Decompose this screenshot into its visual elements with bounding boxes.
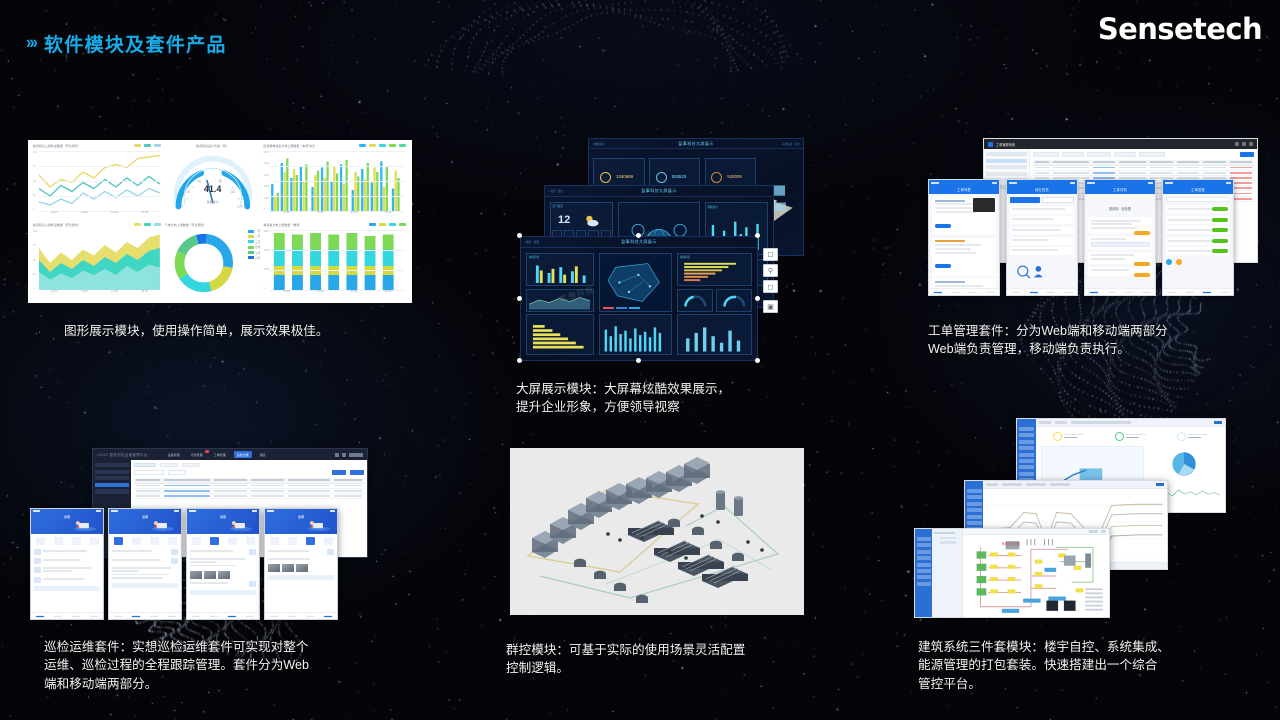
chart-donut-legend: 一月 二月 三月 四月 五月 六月 — [248, 229, 261, 260]
status-badge — [1212, 207, 1228, 211]
phone-hero-2: 运维 — [109, 509, 181, 534]
inspection-logo: LOGO 智慧巡检运维管理平台 — [97, 452, 148, 457]
more-button[interactable] — [112, 583, 178, 588]
chart-line-xaxis: 12:0013:0014:0015:00 — [39, 211, 160, 218]
svg-text:0: 0 — [181, 204, 183, 208]
phone-appbar-4: 工单进度 — [1163, 185, 1233, 194]
list-item — [112, 558, 178, 564]
selection-handle-tc[interactable] — [636, 233, 641, 238]
submit-button[interactable] — [268, 575, 334, 580]
gauge-icon-1 — [678, 290, 713, 311]
phone-quick-nav-4[interactable] — [265, 534, 337, 547]
nav-item-5: 报表 — [257, 451, 269, 458]
bigscreen-f-bars-tile: 用能趋势 — [526, 253, 594, 286]
sidebar-item-5 — [95, 489, 129, 493]
chart-grouped-bar-xaxis: 12:0013:0014:0015:00 — [269, 211, 405, 218]
status-badge — [1134, 231, 1150, 235]
app-logo-icon — [988, 142, 993, 147]
bms-bar-chart — [1041, 446, 1144, 482]
submit-button[interactable] — [190, 590, 256, 595]
bigscreen-bar-label: 能耗统计 — [707, 205, 717, 209]
phone-tabbar-2[interactable] — [109, 612, 181, 619]
building-system-suite-screenshot[interactable]: 系统运行状态 — [906, 418, 1226, 620]
page-title: 软件模块及套件产品 — [44, 30, 227, 57]
bigscreen-gauge-2 — [716, 289, 753, 312]
bigscreen-front-title: 监事科技大屏展示 — [521, 239, 757, 245]
bigscreen-f-bars-label: 用能趋势 — [529, 255, 539, 259]
page-header: ››› 软件模块及套件产品 Sensetech — [0, 0, 1280, 62]
phone-hero-3: 运维 — [187, 509, 259, 534]
list-item — [34, 577, 100, 583]
list-item — [1010, 206, 1074, 214]
bigscreen-hbars — [682, 262, 747, 283]
phone-quick-nav-3[interactable] — [187, 534, 259, 547]
gauge-icon-2 — [717, 290, 752, 311]
phone-appbar-2: 待办任务 — [1007, 185, 1077, 194]
photo-thumbnails[interactable] — [268, 564, 334, 572]
list-item — [190, 549, 256, 555]
work-order-web-titlebar: 工单管理系统 — [984, 139, 1257, 149]
bms-toolbar-2[interactable] — [983, 481, 1167, 489]
kpi-card-1 — [1053, 432, 1084, 441]
list-item — [1010, 247, 1074, 255]
bigscreen-front-corner: ⌂ 概览 · 报警 — [524, 240, 539, 244]
phone-quick-nav-2[interactable] — [109, 534, 181, 547]
phone-body-4 — [1163, 194, 1233, 295]
sidebar-item-active — [95, 483, 129, 487]
list-item — [1010, 227, 1074, 235]
bigscreen-bars-2 — [603, 323, 668, 352]
chart-area-xaxis: 12:0013:0014:0015:00 — [39, 290, 160, 297]
bigscreen-bars-tile-2 — [599, 314, 672, 355]
nav-item-1: 设备管理 — [165, 451, 183, 458]
status-badge — [935, 264, 951, 268]
chevrons-icon: ››› — [26, 36, 35, 52]
phone-statusbar — [31, 509, 103, 513]
inspection-phone-3[interactable]: 运维 — [186, 508, 260, 620]
list-item — [112, 567, 178, 580]
caption-group-control: 群控模块：可基于实际的使用场景灵活配置 控制逻辑。 — [506, 641, 745, 678]
detail-card — [1088, 236, 1152, 249]
bms-scada-window[interactable]: 系统运行状态 — [914, 528, 1110, 618]
window-controls[interactable] — [1235, 142, 1253, 146]
phone-body-1 — [929, 194, 999, 295]
phone-hero-1: 运维 — [31, 509, 103, 534]
chart-area: 各月机房上用外设数量（环比增长） 1007550250 12:0013:0014… — [33, 223, 162, 299]
list-item — [1166, 205, 1230, 213]
chart-area-plot — [39, 230, 160, 290]
inspection-nav[interactable]: 设备管理 计划管理 工单管理 巡检记录 报表 — [165, 451, 269, 458]
photo-thumbnails[interactable] — [190, 571, 256, 579]
page-dot[interactable] — [1176, 259, 1182, 265]
chart-stacked-bar-plot — [269, 230, 405, 290]
nav-item-active: 巡检记录 — [234, 451, 252, 458]
inspection-topbar-actions[interactable] — [335, 453, 363, 457]
query-button — [332, 470, 346, 475]
chart-line-legend — [134, 144, 161, 147]
bigscreen-f-bars — [532, 263, 590, 283]
bigscreen-back-corner-right: 系统设置 · 退出 — [782, 142, 800, 146]
status-badge — [1134, 262, 1150, 266]
bigscreen-rank-label: 能耗排名 — [680, 255, 690, 259]
bigscreen-hbar-tile — [526, 314, 594, 355]
caption-big-screen-display: 大屏展示模块：大屏幕炫酷效果展示， 提升企业形象，方便领导视察 — [516, 380, 730, 417]
zoom-tool-button[interactable]: ⚲ — [763, 264, 778, 277]
worker-illustration-icon — [228, 518, 254, 532]
reset-button — [350, 470, 364, 475]
status-badge — [1212, 228, 1228, 232]
bms-kpi-row — [1036, 427, 1225, 443]
table-row — [134, 493, 364, 498]
chart-grouped-bar: 区域用电排名分布上限数量（本周对比） — [263, 144, 407, 220]
chart-grouped-bar-legend — [359, 144, 406, 147]
bigscreen-mid-title: 监事科技大屏展示 — [545, 188, 773, 194]
chart-stacked-bar-legend — [369, 223, 406, 226]
more-button[interactable] — [34, 586, 100, 591]
equipment-block-2 — [1064, 556, 1076, 566]
phone-tabbar-1[interactable] — [31, 612, 103, 619]
kpi-card-3 — [1177, 432, 1208, 441]
phone-tabbar-3[interactable] — [187, 612, 259, 619]
status-badge — [935, 224, 951, 228]
selection-handle-ml[interactable] — [517, 296, 522, 301]
nav-item-2: 计划管理 — [188, 451, 206, 458]
list-item — [1166, 226, 1230, 234]
worker-illustration-icon — [150, 518, 176, 532]
inspection-web-topbar: LOGO 智慧巡检运维管理平台 设备管理 计划管理 工单管理 巡检记录 报表 — [93, 449, 367, 460]
list-item — [1166, 247, 1230, 255]
list-item — [34, 558, 100, 564]
chart-gauge: 各月机房设计方案（件） 02040 6080100 — [165, 144, 261, 220]
sidebar-item-4 — [986, 172, 1027, 176]
work-order-suite-screenshot[interactable]: 工单管理系统 — [928, 128, 1258, 316]
sidebar-item-1 — [986, 152, 1027, 156]
isometric-plant-diagram — [510, 448, 804, 615]
list-item — [190, 558, 256, 568]
inspection-phone-4[interactable]: 运维 — [264, 508, 338, 620]
work-order-phone-1[interactable]: 工单列表 — [928, 179, 1000, 296]
inspection-phone-1[interactable]: 运维 — [30, 508, 104, 620]
ahu-units — [977, 551, 987, 595]
bms-pie-chart — [1148, 446, 1220, 482]
detail-card — [1088, 217, 1152, 233]
chart-line-plot — [39, 151, 160, 211]
group-control-screenshot[interactable] — [510, 448, 804, 615]
list-item — [1010, 216, 1074, 224]
frame-tool-button[interactable]: ◻ — [763, 280, 778, 293]
phone-tabbar-4[interactable] — [265, 612, 337, 619]
fan-icons — [1028, 539, 1053, 545]
work-order-phone-2[interactable]: 待办任务 — [1006, 179, 1078, 296]
bms-sidebar-3[interactable] — [915, 529, 932, 617]
donut-arcs — [167, 229, 241, 297]
worker-illustration-icon — [72, 518, 98, 532]
search-button[interactable] — [1240, 152, 1254, 157]
bigscreen-hbars-2 — [531, 324, 589, 351]
phone-tabbar-3[interactable] — [1085, 288, 1155, 295]
graphic-display-screenshot[interactable]: 各月机房上用外设数量（环比增长） 1007550250 12:0013:0014… — [28, 140, 412, 303]
status-badge — [1212, 218, 1228, 222]
bigscreen-map-tile — [599, 253, 672, 312]
tab-pending[interactable] — [1010, 197, 1040, 203]
save-tool-button[interactable]: ▣ — [763, 300, 778, 313]
list-item — [268, 558, 334, 561]
sidebar-item-2 — [95, 470, 129, 474]
bigscreen-front[interactable]: 监事科技大屏展示 ⌂ 概览 · 报警 用能趋势 — [520, 236, 758, 361]
list-item — [1166, 237, 1230, 245]
inspection-toolbar[interactable] — [134, 463, 364, 467]
inspection-ops-suite-screenshot[interactable]: LOGO 智慧巡检运维管理平台 设备管理 计划管理 工单管理 巡检记录 报表 — [30, 448, 370, 623]
phone-quick-nav-1[interactable] — [31, 534, 103, 547]
chart-stacked-bar: 本月各分布上用数量（堆叠） — [263, 223, 407, 299]
nav-item-3: 工单管理 — [211, 451, 229, 458]
work-order-phone-4[interactable]: 工单进度 — [1162, 179, 1234, 296]
phone-list-1 — [31, 547, 103, 593]
sidebar-item-3 — [95, 476, 129, 480]
phone-appbar-3: 工单详情 — [1085, 185, 1155, 194]
bigscreen-back-corner-left: ⌂ 数据总览 — [592, 142, 605, 146]
map-hologram-icon — [600, 254, 671, 311]
list-item — [190, 581, 256, 587]
phone-list-2 — [109, 547, 181, 590]
caption-graphic-display: 图形展示模块，使用操作简单，展示效果极佳。 — [64, 322, 328, 340]
selection-handle-tl[interactable] — [517, 233, 522, 238]
page-title-group: ››› 软件模块及套件产品 — [26, 30, 227, 57]
bigscreen-weather-label: 天气情况 — [552, 204, 562, 208]
chart-donut: 气体分布上用数量（环比增长） 一月 二月 三月 四月 五月 六月 — [165, 223, 261, 299]
worker-illustration-icon — [306, 518, 332, 532]
phone-list-4 — [265, 547, 337, 582]
phone-hero-4: 运维 — [265, 509, 337, 534]
pump-blocks — [1047, 601, 1076, 611]
chart-stacked-bar-yaxis: 6000400020000 — [263, 230, 269, 290]
phone-tabbar-1[interactable] — [929, 288, 999, 295]
work-order-phone-3[interactable]: 工单详情 报修单 · 待处理 — [1084, 179, 1156, 296]
empty-state-illustration — [1015, 263, 1049, 279]
chart-area-legend — [134, 223, 161, 226]
caption-work-order-suite: 工单管理套件：分为Web端和移动端两部分 Web端负责管理，移动端负责执行。 — [928, 322, 1168, 359]
list-item — [112, 549, 178, 555]
status-badge — [1212, 239, 1228, 243]
bigscreen-bars-3 — [681, 323, 749, 352]
big-screen-display-screenshot[interactable]: 监事科技大屏展示 ⌂ 数据总览 系统设置 · 退出 1340669 528525… — [510, 138, 804, 364]
bigscreen-back-title: 监事科技大屏展示 — [589, 141, 803, 147]
chart-stacked-bar-xaxis: 12:0013:0014:0015:00 — [269, 290, 405, 297]
status-badge — [1134, 273, 1150, 277]
detail-card — [1088, 267, 1152, 276]
svg-text:100: 100 — [237, 204, 243, 208]
phone-statusbar — [109, 509, 181, 513]
phone-tabbar-4[interactable] — [1163, 288, 1233, 295]
kpi-card-2 — [1115, 432, 1146, 441]
inspection-phone-2[interactable]: 运维 — [108, 508, 182, 620]
list-item — [1010, 237, 1074, 245]
chart-grouped-bar-plot — [269, 151, 405, 211]
work-order-web-title: 工单管理系统 — [996, 142, 1015, 147]
phone-body-2 — [1007, 194, 1077, 295]
bigscreen-rank-tile: 能耗排名 — [677, 253, 753, 286]
gauge-label: 数据统计 — [165, 200, 261, 204]
list-item — [34, 567, 100, 574]
equipment-block-3 — [1086, 553, 1092, 567]
selection-handle-bc[interactable] — [636, 358, 641, 363]
selection-handle-br[interactable] — [755, 358, 760, 363]
list-item — [34, 549, 100, 555]
bigscreen-mid-corner: ⌂ 首页 · 监控 — [548, 189, 563, 193]
sidebar-item-2 — [986, 159, 1027, 163]
phone-statusbar — [265, 509, 337, 513]
bms-tree-panel[interactable] — [932, 529, 963, 617]
list-item — [932, 238, 996, 276]
phone-statusbar — [187, 509, 259, 513]
sidebar-item-1 — [95, 463, 129, 467]
crop-tool-button[interactable]: ☐ — [763, 248, 778, 261]
chart-line: 各月机房上用外设数量（环比增长） 1007550250 12:0013:0014… — [33, 144, 162, 220]
list-item — [1166, 216, 1230, 224]
legend-list — [1086, 588, 1103, 610]
selection-handle-tr[interactable] — [755, 233, 760, 238]
bigscreen-bars-tile-3 — [677, 314, 753, 355]
inspection-filter-row[interactable] — [134, 470, 364, 475]
phone-appbar-1: 工单列表 — [929, 185, 999, 194]
work-order-filters[interactable] — [1033, 152, 1254, 157]
weather-sun-cloud-icon — [583, 214, 600, 228]
phone-body-3: 报修单 · 待处理 — [1085, 194, 1155, 295]
bigscreen-gauge-1 — [677, 289, 714, 312]
chart-grouped-bar-yaxis: 500040003000200010000 — [263, 151, 269, 211]
tab-done[interactable] — [1042, 197, 1074, 203]
brand-logo: Sensetech — [1098, 12, 1262, 46]
phone-list-3 — [187, 547, 259, 597]
bms-toolbar-1[interactable] — [1036, 419, 1225, 427]
caption-inspection-ops-suite: 巡检运维套件：实想巡检运维套件可实现对整个 运维、巡检过程的全程跟踪管理。套件分… — [44, 638, 309, 693]
caption-building-system-suite: 建筑系统三件套模块：楼宇自控、系统集成、 能源管理的打包套装。快速搭建出一个综合… — [918, 638, 1170, 693]
stacked-bars — [269, 230, 405, 290]
phone-tabbar-2[interactable] — [1007, 288, 1077, 295]
detail-card — [1088, 252, 1152, 265]
page-dot[interactable] — [1166, 259, 1172, 265]
sidebar-item-3 — [986, 165, 1027, 169]
chart-line-yaxis: 1007550250 — [33, 151, 39, 211]
status-badge — [1212, 249, 1228, 253]
svg-text:系统运行状态: 系统运行状态 — [1002, 541, 1021, 546]
selection-handle-mr[interactable] — [755, 296, 760, 301]
search-input[interactable] — [1166, 197, 1230, 202]
selection-handle-bl[interactable] — [517, 358, 522, 363]
bms-scada-schematic: 系统运行状态 — [963, 535, 1109, 617]
chart-area-yaxis: 1007550250 — [33, 230, 39, 290]
gauge-value: 41.4 — [165, 184, 261, 194]
list-item — [268, 549, 334, 555]
inspection-table — [134, 478, 364, 499]
